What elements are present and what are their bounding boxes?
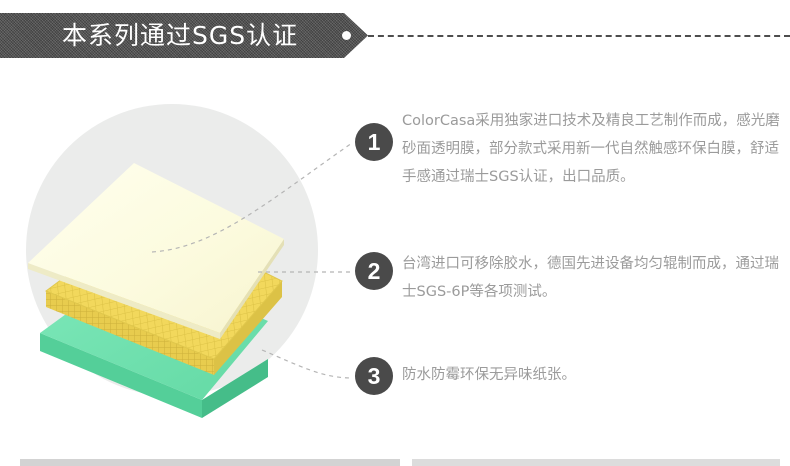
feature-text-2: 台湾进口可移除胶水，德国先进设备均匀辊制而成，通过瑞士SGS-6P等各项测试。 [402,250,790,306]
layered-paper-stack-diagram [8,95,328,425]
header-dashed-rule [368,35,790,37]
feature-number-badge-3: 3 [355,357,393,395]
exploded-layers-graphic [8,95,328,425]
bottom-panel-left [20,459,400,466]
page-header-banner: 本系列通过SGS认证 [0,13,368,58]
feature-text-1: ColorCasa采用独家进口技术及精良工艺制作而成，感光磨砂面透明膜，部分款式… [402,107,790,191]
feature-item-2: 2 台湾进口可移除胶水，德国先进设备均匀辊制而成，通过瑞士SGS-6P等各项测试… [355,252,790,306]
feature-number-badge-2: 2 [355,252,393,290]
feature-item-3: 3 防水防霉环保无异味纸张。 [355,357,790,395]
bottom-panel-right [412,459,780,466]
bullet-dot-icon [342,31,351,40]
feature-text-3: 防水防霉环保无异味纸张。 [402,361,790,389]
page-title: 本系列通过SGS认证 [62,13,298,58]
feature-number-badge-1: 1 [355,123,393,161]
feature-item-1: 1 ColorCasa采用独家进口技术及精良工艺制作而成，感光磨砂面透明膜，部分… [355,123,790,191]
